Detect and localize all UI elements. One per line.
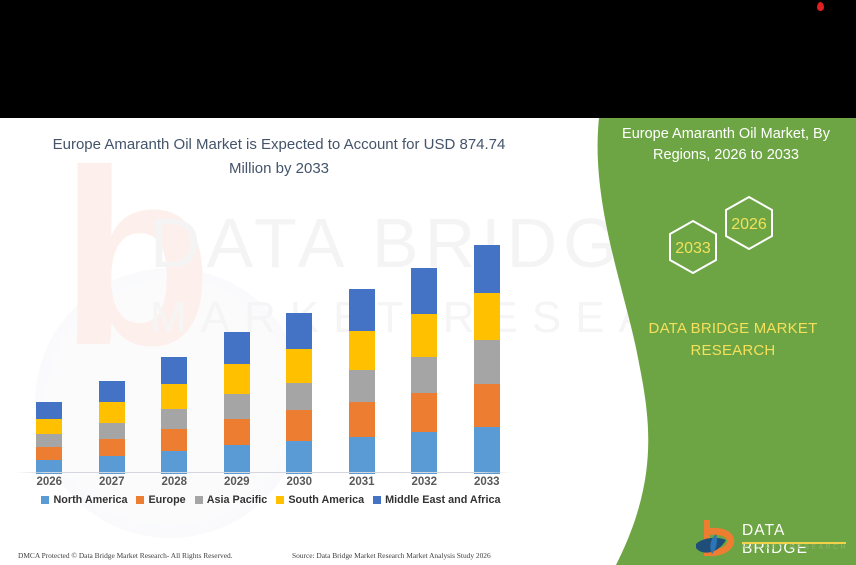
- legend-item[interactable]: Europe: [136, 494, 185, 506]
- svg-text:2026: 2026: [731, 216, 767, 233]
- bar-segment[interactable]: [224, 332, 250, 364]
- legend-label: Middle East and Africa: [385, 494, 500, 506]
- bar-segment[interactable]: [36, 402, 62, 419]
- bar-segment[interactable]: [411, 393, 437, 433]
- infographic-card: b DATA BRIDGE MARKET RESEARCH Europe Ama…: [0, 118, 856, 565]
- legend-swatch-icon: [276, 496, 284, 504]
- bar-segment[interactable]: [286, 410, 312, 441]
- legend-label: Europe: [148, 494, 185, 506]
- bar-segment[interactable]: [286, 383, 312, 411]
- bar-segment[interactable]: [224, 419, 250, 446]
- legend-swatch-icon: [41, 496, 49, 504]
- bar-segment[interactable]: [161, 429, 187, 451]
- panel-title: Europe Amaranth Oil Market, By Regions, …: [596, 124, 856, 166]
- x-axis-label: 2030: [269, 476, 329, 488]
- stacked-bar-chart: [18, 218, 518, 474]
- x-axis-label: 2031: [332, 476, 392, 488]
- bar-column[interactable]: [474, 245, 500, 474]
- bar-column[interactable]: [224, 332, 250, 474]
- legend-label: South America: [288, 494, 364, 506]
- bar-segment[interactable]: [474, 293, 500, 340]
- x-axis-label: 2033: [457, 476, 517, 488]
- legend-item[interactable]: Asia Pacific: [195, 494, 268, 506]
- bar-segment[interactable]: [161, 384, 187, 409]
- x-axis-label: 2029: [207, 476, 267, 488]
- legend-swatch-icon: [373, 496, 381, 504]
- legend-label: Asia Pacific: [207, 494, 268, 506]
- bar-segment[interactable]: [161, 357, 187, 383]
- bar-segment[interactable]: [286, 313, 312, 349]
- red-marker-icon: [817, 2, 824, 11]
- bar-segment[interactable]: [224, 364, 250, 394]
- legend-item[interactable]: Middle East and Africa: [373, 494, 500, 506]
- bar-segment[interactable]: [411, 432, 437, 474]
- top-black-strip: [0, 0, 856, 118]
- bar-column[interactable]: [349, 289, 375, 474]
- bar-segment[interactable]: [99, 381, 125, 402]
- svg-text:2033: 2033: [675, 240, 711, 257]
- footer-copyright: DMCA Protected © Data Bridge Market Rese…: [18, 551, 233, 560]
- bar-column[interactable]: [161, 357, 187, 474]
- bar-segment[interactable]: [224, 445, 250, 474]
- logo-wordmark: DATA BRIDGE: [742, 522, 850, 558]
- bar-segment[interactable]: [349, 437, 375, 474]
- data-bridge-logo: DATA BRIDGE MARKET RESEARCH: [692, 516, 850, 564]
- x-axis-label: 2028: [144, 476, 204, 488]
- bar-column[interactable]: [411, 268, 437, 474]
- bar-segment[interactable]: [161, 409, 187, 429]
- chart-title: Europe Amaranth Oil Market is Expected t…: [44, 133, 514, 181]
- bar-segment[interactable]: [161, 451, 187, 474]
- bar-segment[interactable]: [474, 340, 500, 384]
- x-axis-label: 2027: [82, 476, 142, 488]
- bar-segment[interactable]: [349, 402, 375, 437]
- chart-x-axis-labels: 20262027202820292030203120322033: [18, 476, 518, 494]
- legend-swatch-icon: [195, 496, 203, 504]
- bar-segment[interactable]: [411, 268, 437, 314]
- screenshot-root: b DATA BRIDGE MARKET RESEARCH Europe Ama…: [0, 0, 856, 565]
- logo-mark-icon: [692, 516, 740, 562]
- bar-segment[interactable]: [36, 447, 62, 461]
- footer-source: Source: Data Bridge Market Research Mark…: [292, 551, 491, 560]
- bar-segment[interactable]: [99, 402, 125, 422]
- logo-subtitle: MARKET RESEARCH: [742, 544, 848, 551]
- bar-segment[interactable]: [349, 370, 375, 402]
- bar-segment[interactable]: [286, 349, 312, 383]
- bar-column[interactable]: [99, 381, 125, 474]
- x-axis-label: 2032: [394, 476, 454, 488]
- legend-swatch-icon: [136, 496, 144, 504]
- bar-segment[interactable]: [99, 423, 125, 439]
- bar-segment[interactable]: [36, 434, 62, 447]
- bar-column[interactable]: [286, 313, 312, 474]
- x-axis-label: 2026: [19, 476, 79, 488]
- bar-segment[interactable]: [36, 419, 62, 435]
- bar-segment[interactable]: [474, 245, 500, 293]
- bar-segment[interactable]: [286, 441, 312, 474]
- panel-brand-text: DATA BRIDGE MARKET RESEARCH: [610, 318, 856, 362]
- chart-axis-line: [16, 472, 512, 473]
- bar-segment[interactable]: [474, 427, 500, 474]
- legend-item[interactable]: North America: [41, 494, 127, 506]
- bar-column[interactable]: [36, 402, 62, 474]
- bar-segment[interactable]: [349, 289, 375, 331]
- legend-label: North America: [53, 494, 127, 506]
- bar-segment[interactable]: [349, 331, 375, 370]
- bar-segment[interactable]: [411, 314, 437, 358]
- bar-segment[interactable]: [99, 439, 125, 456]
- footer: DMCA Protected © Data Bridge Market Rese…: [0, 545, 520, 565]
- legend-item[interactable]: South America: [276, 494, 364, 506]
- bar-segment[interactable]: [474, 384, 500, 427]
- bar-segment[interactable]: [411, 357, 437, 393]
- bar-segment[interactable]: [224, 394, 250, 418]
- chart-legend: North AmericaEuropeAsia PacificSouth Ame…: [18, 494, 524, 506]
